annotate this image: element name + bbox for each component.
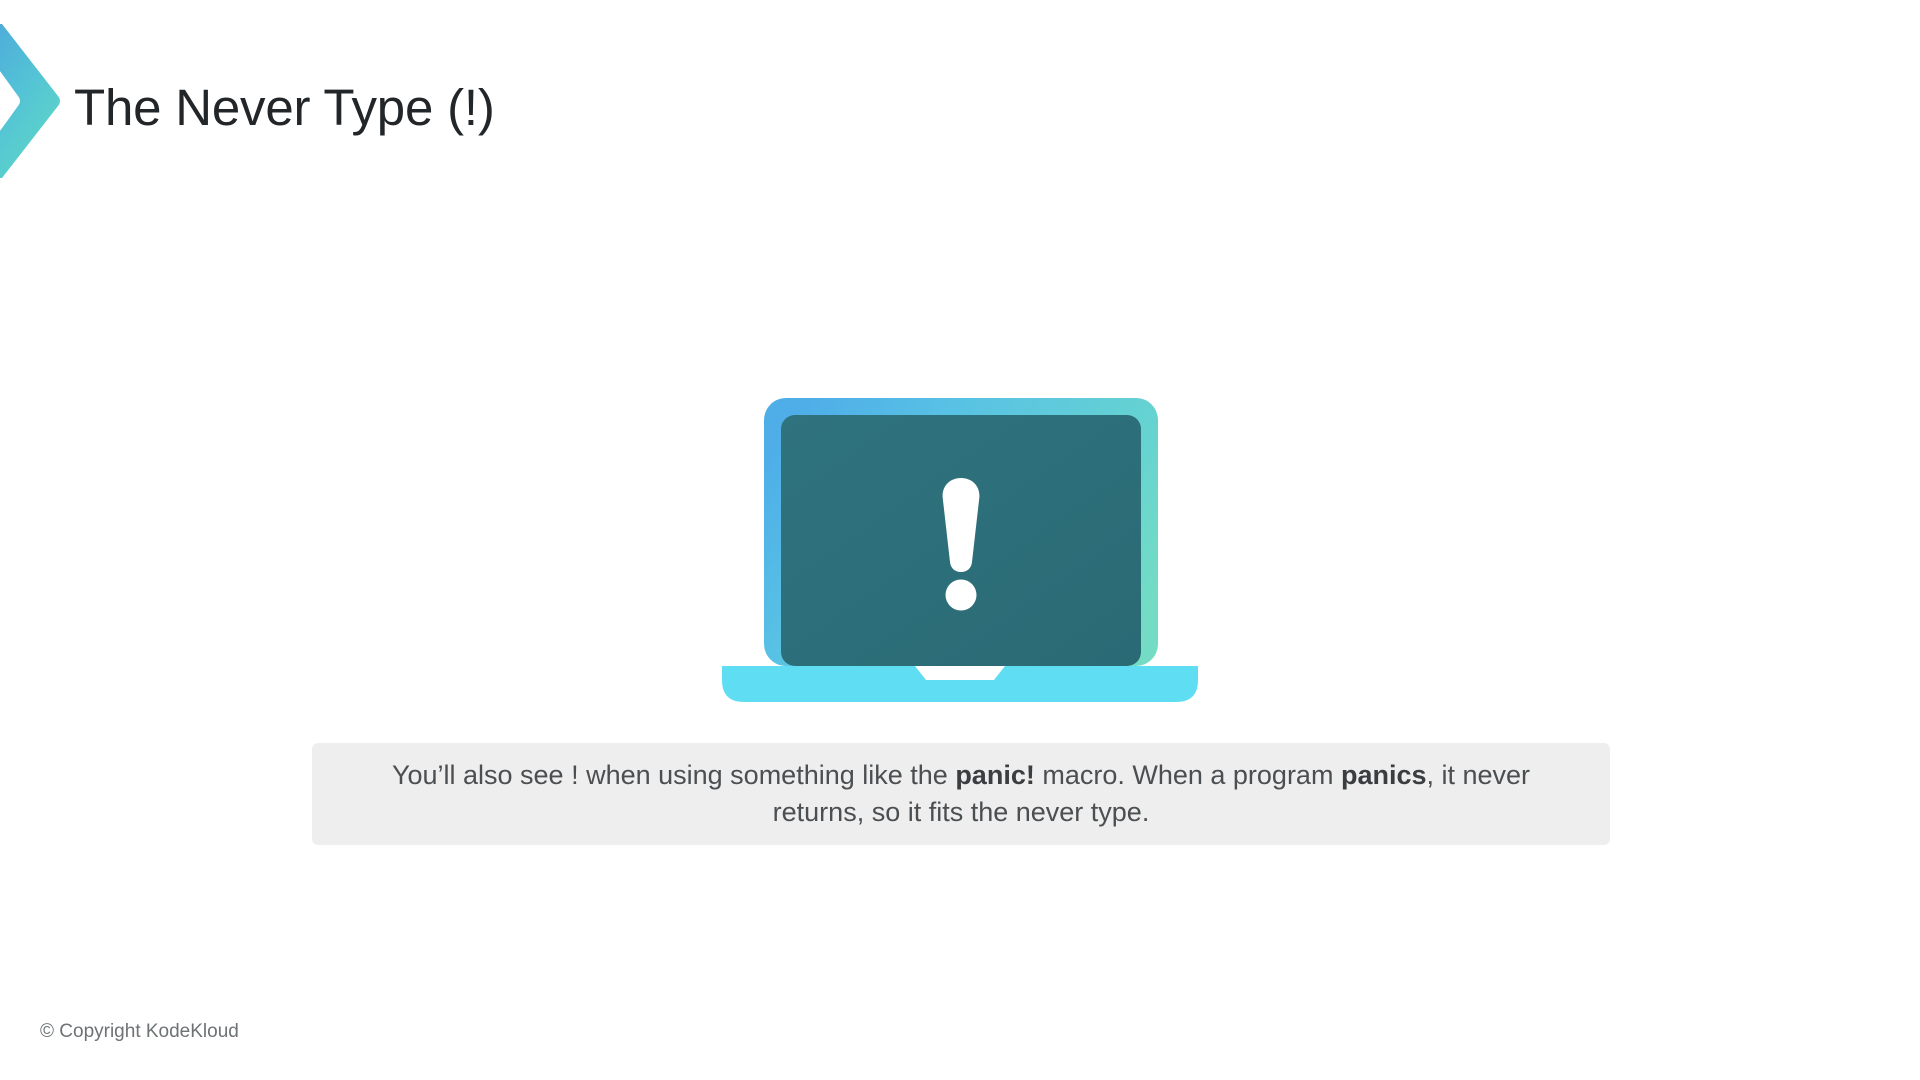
caption-text: You’ll also see ! when using something l…: [358, 757, 1564, 831]
footer-copyright: © Copyright KodeKloud: [40, 1021, 239, 1043]
caption-callout: You’ll also see ! when using something l…: [312, 743, 1610, 845]
laptop-with-exclamation-icon: [700, 390, 1220, 710]
caption-segment-2: macro. When a program: [1035, 760, 1341, 790]
caption-segment-0: You’ll also see ! when using something l…: [392, 760, 955, 790]
caption-segment-3-bold: panics: [1341, 760, 1427, 790]
page-title: The Never Type (!): [74, 78, 495, 138]
slide-canvas: The Never Type (!): [0, 0, 1920, 1080]
chevron-right-logo-icon: [0, 22, 62, 180]
caption-segment-1-bold: panic!: [955, 760, 1035, 790]
